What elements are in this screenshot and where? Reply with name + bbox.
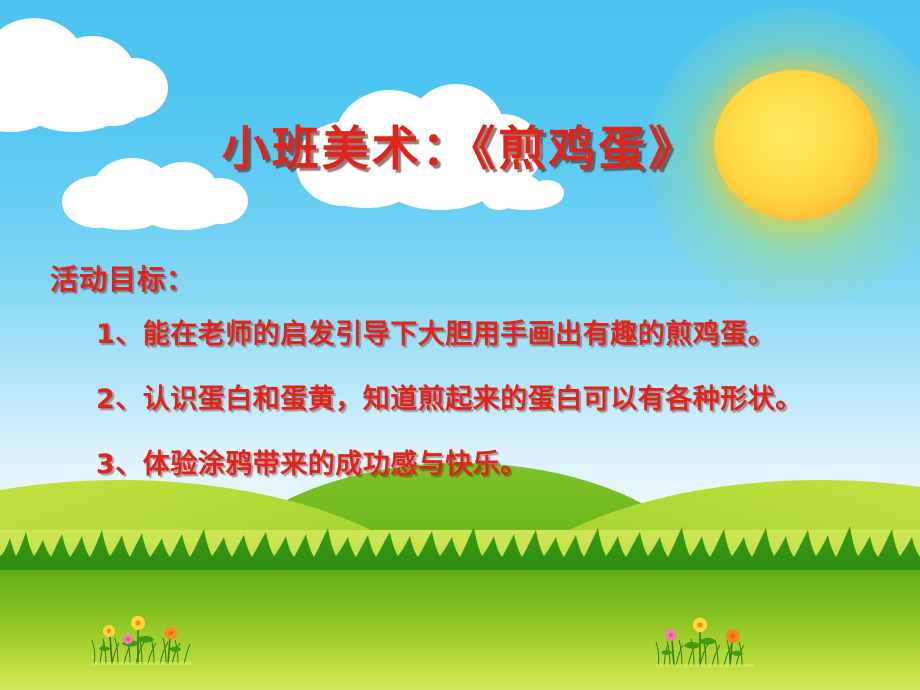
goal-list: 1、能在老师的启发引导下大胆用手画出有趣的煎鸡蛋。 2、认识蛋白和蛋黄，知道煎起… xyxy=(96,312,906,507)
flowers-right-icon xyxy=(652,612,762,668)
list-item: 2、认识蛋白和蛋黄，知道煎起来的蛋白可以有各种形状。 xyxy=(96,377,906,416)
list-item: 1、能在老师的启发引导下大胆用手画出有趣的煎鸡蛋。 xyxy=(96,312,906,351)
slide-canvas: 小班美术：《煎鸡蛋》 活动目标： 1、能在老师的启发引导下大胆用手画出有趣的煎鸡… xyxy=(0,0,920,690)
cloud-top-left-icon xyxy=(0,14,198,124)
goal-heading: 活动目标： xyxy=(50,258,195,298)
list-item: 3、体验涂鸦带来的成功感与快乐。 xyxy=(96,442,906,481)
flowers-left-icon xyxy=(88,608,198,666)
page-title: 小班美术：《煎鸡蛋》 xyxy=(0,110,920,179)
